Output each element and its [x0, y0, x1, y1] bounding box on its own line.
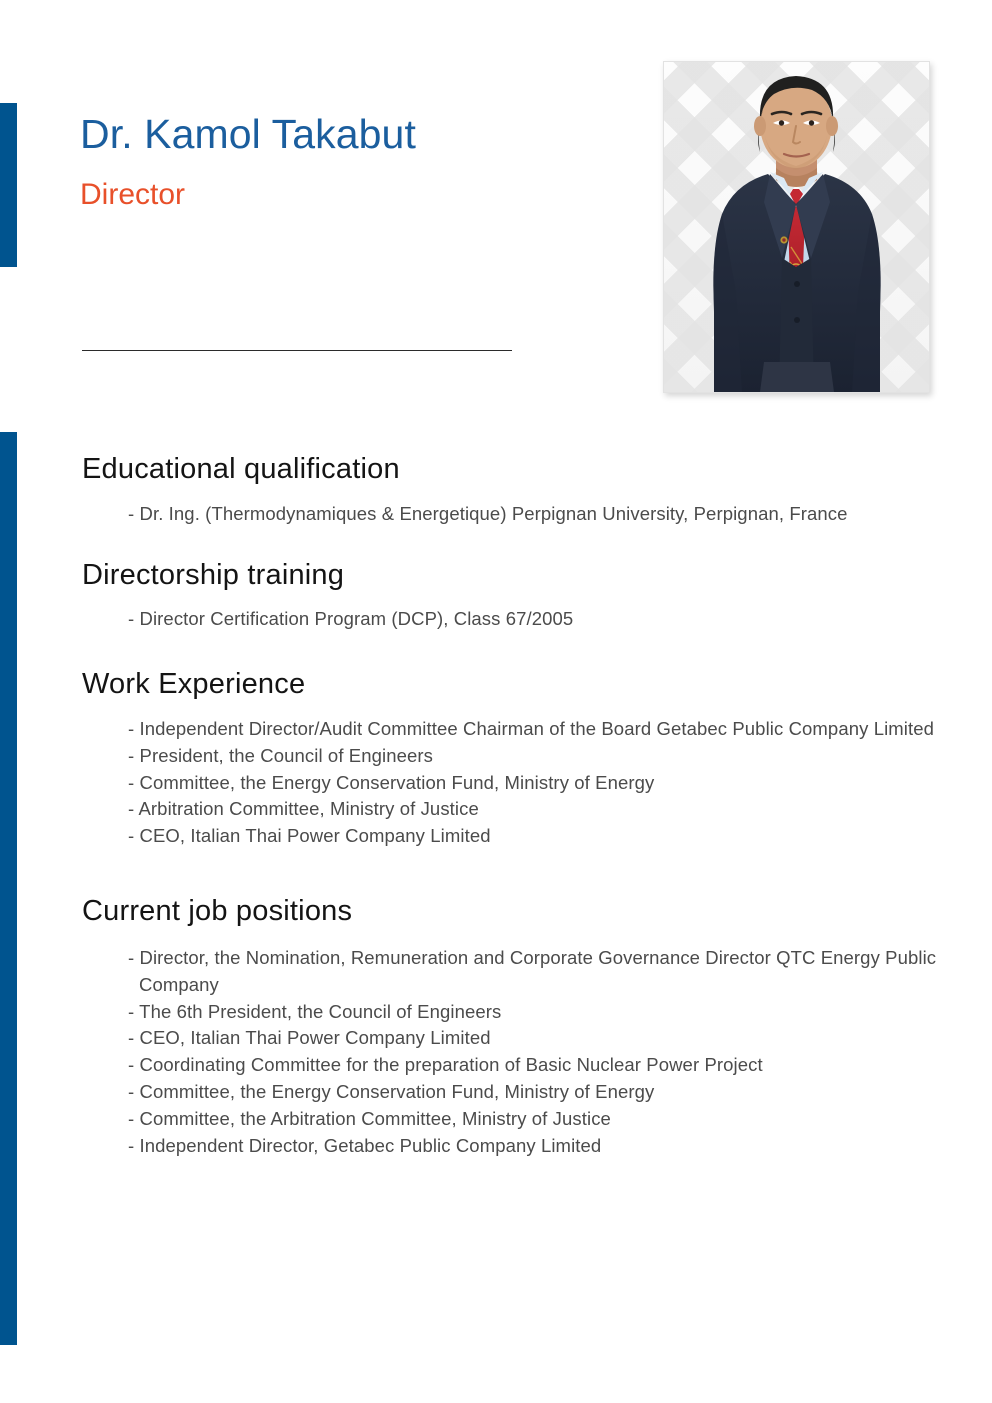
section-work-experience: Work Experience - Independent Director/A…: [82, 667, 962, 850]
section-bullet-list: - Independent Director/Audit Committee C…: [82, 716, 962, 850]
list-item: - Independent Director, Getabec Public C…: [128, 1133, 962, 1160]
list-item: - Arbitration Committee, Ministry of Jus…: [128, 796, 962, 823]
list-item: - CEO, Italian Thai Power Company Limite…: [128, 1025, 962, 1052]
list-item: - Committee, the Energy Conservation Fun…: [128, 770, 962, 797]
list-item: - Coordinating Committee for the prepara…: [128, 1052, 962, 1079]
list-item: - CEO, Italian Thai Power Company Limite…: [128, 823, 962, 850]
section-title: Educational qualification: [82, 452, 962, 487]
list-item: - Independent Director/Audit Committee C…: [128, 716, 962, 743]
header-divider: [82, 350, 512, 351]
content-sections: Educational qualification - Dr. Ing. (Th…: [82, 452, 962, 1159]
section-bullet-list: - Dr. Ing. (Thermodynamiques & Energetiq…: [82, 501, 962, 528]
header-block: Dr. Kamol Takabut Director: [80, 112, 640, 211]
list-item: - Director Certification Program (DCP), …: [128, 606, 962, 633]
section-title: Work Experience: [82, 667, 962, 702]
section-bullet-list: - Director Certification Program (DCP), …: [82, 606, 962, 633]
section-title: Current job positions: [82, 894, 962, 929]
list-item: - Director, the Nomination, Remuneration…: [128, 945, 962, 999]
list-item: - The 6th President, the Council of Engi…: [128, 999, 962, 1026]
profile-page: Dr. Kamol Takabut Director: [0, 0, 992, 1403]
section-directorship-training: Directorship training - Director Certifi…: [82, 558, 962, 634]
list-item: - Committee, the Arbitration Committee, …: [128, 1106, 962, 1133]
portrait-person-illustration: [664, 62, 929, 392]
person-name: Dr. Kamol Takabut: [80, 112, 640, 156]
list-item: - Committee, the Energy Conservation Fun…: [128, 1079, 962, 1106]
accent-bar-main: [0, 432, 17, 1345]
accent-bar-top: [0, 103, 17, 267]
section-current-job-positions: Current job positions - Director, the No…: [82, 894, 962, 1159]
list-item: - President, the Council of Engineers: [128, 743, 962, 770]
section-educational-qualification: Educational qualification - Dr. Ing. (Th…: [82, 452, 962, 528]
section-bullet-list: - Director, the Nomination, Remuneration…: [82, 945, 962, 1160]
person-role: Director: [80, 178, 640, 211]
portrait-photo: [664, 62, 929, 392]
section-title: Directorship training: [82, 558, 962, 593]
portrait-frame: [663, 61, 930, 393]
list-item: - Dr. Ing. (Thermodynamiques & Energetiq…: [128, 501, 962, 528]
